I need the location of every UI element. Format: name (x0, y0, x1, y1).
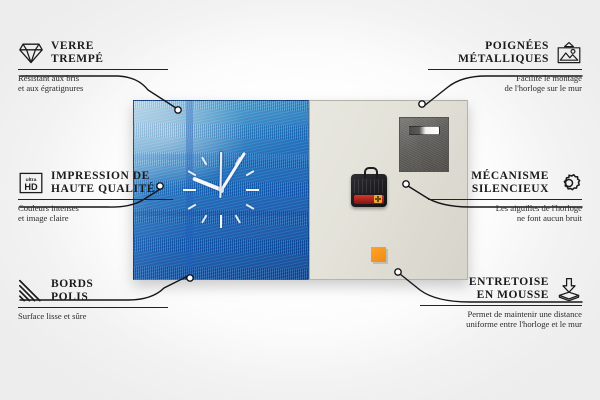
ultra-hd-icon: ultra HD (18, 171, 44, 195)
foam-press-icon (556, 277, 582, 301)
feature-description: Facilite le montage de l'horloge sur le … (428, 73, 582, 94)
feature-print[interactable]: ultra HD IMPRESSION DE HAUTE QUALITÉ Cou… (18, 170, 173, 224)
hanger-keyhole-slot (408, 126, 440, 135)
foam-spacer (371, 247, 386, 262)
feature-edges[interactable]: BORDS POLIS Surface lisse et sûre (18, 278, 168, 321)
feature-rule (420, 305, 582, 306)
feature-title: POIGNÉES MÉTALLIQUES (458, 40, 549, 66)
metal-hanger-plate (399, 117, 449, 172)
feature-description: Permet de maintenir une distance uniform… (420, 309, 582, 330)
polished-edge-icon (18, 279, 44, 303)
framed-picture-hook-icon (556, 41, 582, 65)
feature-rule (18, 199, 173, 200)
clock-center-cap (219, 188, 224, 193)
battery (354, 195, 384, 204)
mechanism-hanging-loop (364, 167, 377, 178)
feature-handles[interactable]: POIGNÉES MÉTALLIQUES Facilite le montage… (428, 40, 582, 94)
infographic-canvas: VERRE TREMPÉ Résistant aux bris et aux é… (0, 0, 600, 400)
product-image (133, 100, 468, 280)
feature-rule (18, 69, 168, 70)
feature-rule (428, 199, 582, 200)
feature-foam[interactable]: ENTRETOISE EN MOUSSE Permet de maintenir… (420, 276, 582, 330)
feature-title: IMPRESSION DE HAUTE QUALITÉ (51, 170, 155, 196)
feature-description: Les aiguilles de l'horloge ne font aucun… (428, 203, 582, 224)
feature-description: Résistant aux bris et aux égratignures (18, 73, 168, 94)
clock-mechanism (351, 174, 387, 207)
battery-plus-terminal (374, 195, 382, 203)
feature-rule (18, 307, 168, 308)
diamond-icon (18, 41, 44, 65)
mechanism-grill (354, 179, 384, 194)
feature-title: VERRE TREMPÉ (51, 40, 104, 66)
feature-title: MÉCANISME SILENCIEUX (471, 170, 549, 196)
feature-mechanism[interactable]: MÉCANISME SILENCIEUX Les aiguilles de l'… (428, 170, 582, 224)
gear-icon (556, 171, 582, 195)
feature-description: Couleurs intenses et image claire (18, 203, 173, 224)
feature-description: Surface lisse et sûre (18, 311, 168, 321)
icon-hd-label: HD (24, 182, 38, 192)
feature-title: BORDS POLIS (51, 278, 93, 304)
feature-glass[interactable]: VERRE TREMPÉ Résistant aux bris et aux é… (18, 40, 168, 94)
feature-title: ENTRETOISE EN MOUSSE (469, 276, 549, 302)
feature-rule (428, 69, 582, 70)
